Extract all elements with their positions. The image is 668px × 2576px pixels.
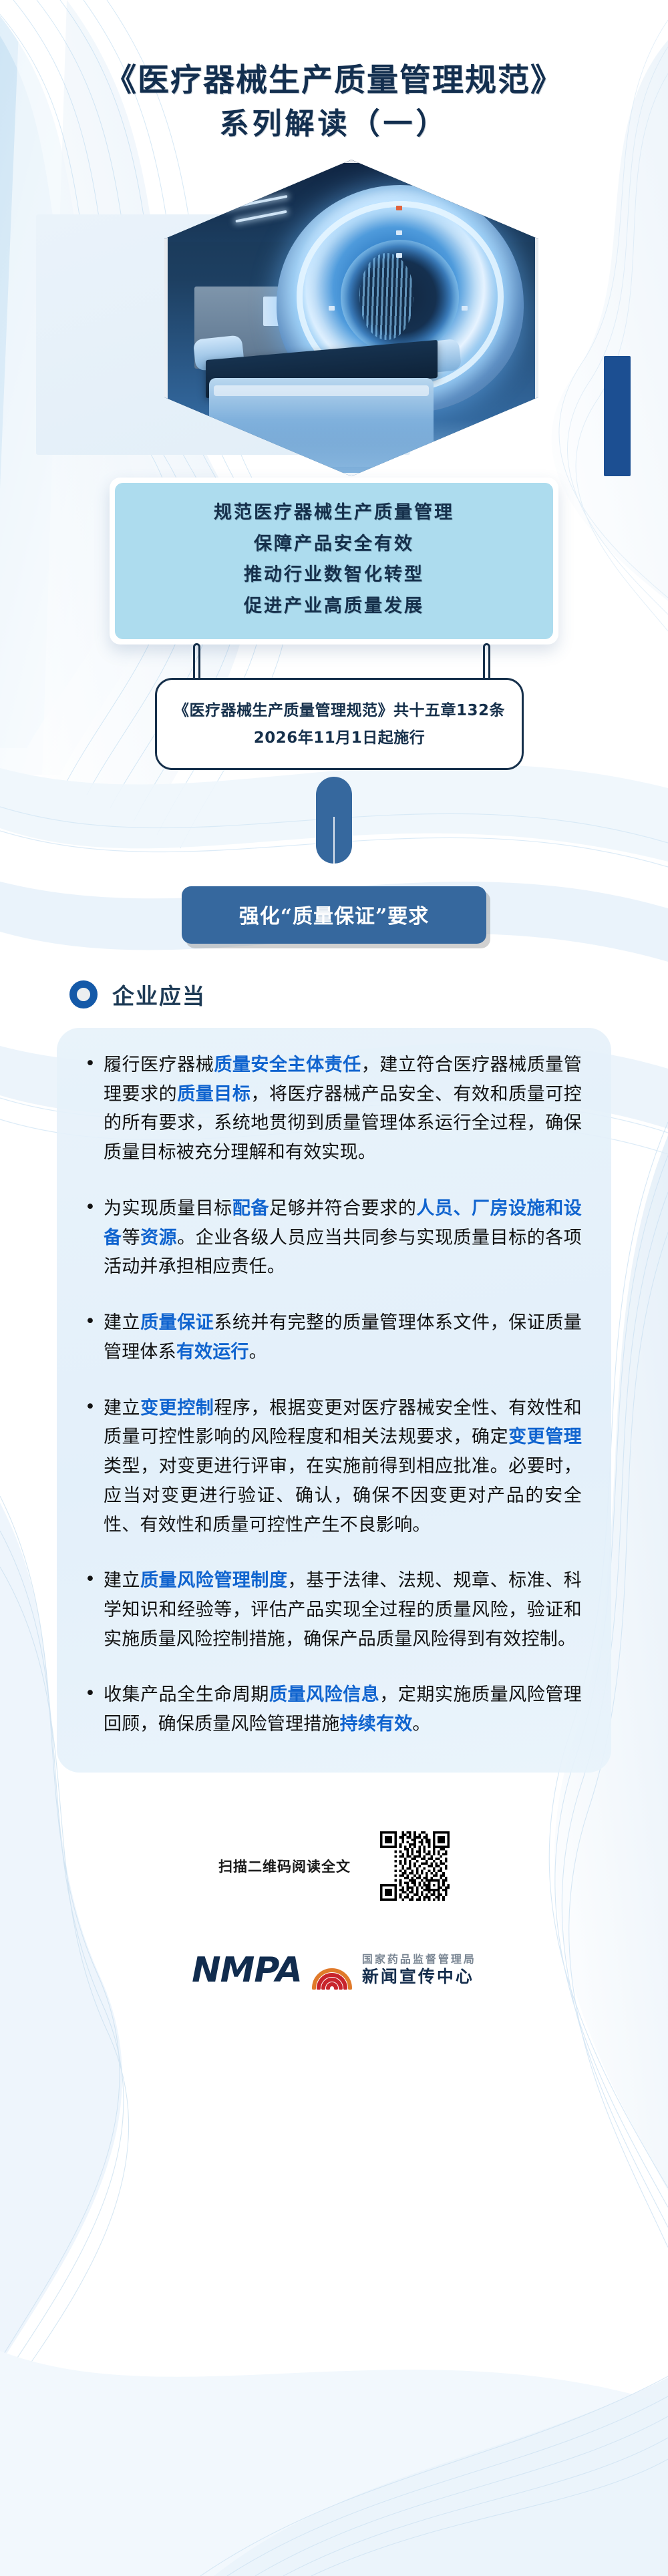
highlighted-term: 配备 — [232, 1198, 269, 1219]
highlighted-term: 质量风险信息 — [269, 1684, 379, 1705]
qr-code-icon[interactable] — [380, 1831, 450, 1901]
page-title-line-2: 系列解读（一） — [0, 104, 668, 145]
hero-accent-bar — [604, 356, 631, 476]
highlighted-term: 变更控制 — [140, 1398, 214, 1419]
slogan-line-1: 规范医疗器械生产质量管理 — [115, 498, 553, 528]
footer-logo-bar: NMPA 国家药品监督管理局 新闻宣传中心 — [0, 1950, 668, 1990]
hanging-sign-section: 《医疗器械生产质量管理规范》共十五章132条 2026年11月1日起施行 — [0, 640, 668, 761]
footer-org-line-2: 新闻宣传中心 — [362, 1966, 476, 1987]
vertical-connector-pill — [316, 777, 352, 864]
slogan-line-2: 保障产品安全有效 — [115, 529, 553, 560]
subsection-heading: 企业应当 — [69, 978, 668, 1010]
highlighted-term: 资源 — [140, 1228, 177, 1248]
slogan-section: 规范医疗器械生产质量管理 保障产品安全有效 推动行业数智化转型 促进产业高质量发… — [0, 478, 668, 645]
body-text: 履行医疗器械 — [104, 1055, 214, 1075]
bullet-3: 建立质量保证系统并有完整的质量管理体系文件，保证质量管理体系有效运行。 — [83, 1308, 582, 1366]
section-banner-text: 强化“质量保证”要求 — [239, 905, 430, 928]
nmpa-arc-logo-icon — [311, 1951, 353, 1990]
infographic-poster: 《医疗器械生产质量管理规范》 系列解读（一） — [0, 0, 668, 2576]
page-title-line-1: 《医疗器械生产质量管理规范》 — [0, 59, 668, 104]
highlighted-term: 质量安全主体责任 — [214, 1055, 361, 1075]
subsection-heading-text: 企业应当 — [112, 978, 206, 1010]
body-text: 建立 — [104, 1398, 140, 1419]
footer-org-line-1: 国家药品监督管理局 — [362, 1953, 476, 1966]
highlighted-term: 质量风险管理制度 — [140, 1570, 287, 1591]
body-text: 建立 — [104, 1312, 140, 1333]
highlighted-term: 质量目标 — [177, 1084, 251, 1105]
hanging-sign-line-1: 《医疗器械生产质量管理规范》共十五章132条 — [157, 697, 522, 725]
highlighted-term: 有效运行 — [176, 1342, 249, 1362]
bullet-2: 为实现质量目标配备足够并符合要求的人员、厂房设施和设备等资源。企业各级人员应当共… — [83, 1194, 582, 1282]
requirements-list: 履行医疗器械质量安全主体责任，建立符合医疗器械质量管理要求的质量目标，将医疗器械… — [83, 1051, 582, 1739]
poster-header: 《医疗器械生产质量管理规范》 系列解读（一） — [0, 0, 668, 145]
bullet-1: 履行医疗器械质量安全主体责任，建立符合医疗器械质量管理要求的质量目标，将医疗器械… — [83, 1051, 582, 1167]
highlighted-term: 质量保证 — [140, 1312, 214, 1333]
slogan-line-4: 促进产业高质量发展 — [115, 591, 553, 622]
bullet-6: 收集产品全生命周期质量风险信息，定期实施质量风险管理回顾，确保质量风险管理措施持… — [83, 1680, 582, 1738]
qr-caption: 扫描二维码阅读全文 — [218, 1856, 351, 1876]
bullet-4: 建立变更控制程序，根据变更对医疗器械安全性、有效性和质量可控性影响的风险程度和相… — [83, 1394, 582, 1540]
body-text: 类型，对变更进行评审，在实施前得到相应批准。必要时，应当对变更进行验证、确认，确… — [104, 1456, 582, 1535]
body-text: 为实现质量目标 — [104, 1198, 232, 1219]
highlighted-term: 变更管理 — [508, 1427, 582, 1447]
body-text: 建立 — [104, 1570, 140, 1591]
hanging-sign-line-2: 2026年11月1日起施行 — [157, 725, 522, 752]
body-text: 等 — [122, 1228, 141, 1248]
requirements-card: 履行医疗器械质量安全主体责任，建立符合医疗器械质量管理要求的质量目标，将医疗器械… — [57, 1028, 611, 1773]
footer-organization: 国家药品监督管理局 新闻宣传中心 — [362, 1953, 476, 1987]
slogan-line-3: 推动行业数智化转型 — [115, 560, 553, 590]
section-banner: 强化“质量保证”要求 — [182, 886, 486, 944]
body-text: 足够并符合要求的 — [269, 1198, 416, 1219]
hero-image-section — [0, 156, 668, 476]
hanging-sign: 《医疗器械生产质量管理规范》共十五章132条 2026年11月1日起施行 — [155, 678, 524, 770]
body-text: 。 — [412, 1714, 430, 1734]
body-text: 收集产品全生命周期 — [104, 1684, 269, 1705]
nmpa-wordmark: NMPA — [192, 1950, 302, 1990]
slogan-card: 规范医疗器械生产质量管理 保障产品安全有效 推动行业数智化转型 促进产业高质量发… — [110, 478, 558, 645]
body-text: 。 — [249, 1342, 267, 1362]
bullet-5: 建立质量风险管理制度，基于法律、法规、规章、标准、科学知识和经验等，评估产品实现… — [83, 1566, 582, 1654]
highlighted-term: 持续有效 — [340, 1714, 413, 1734]
slogan-card-inner: 规范医疗器械生产质量管理 保障产品安全有效 推动行业数智化转型 促进产业高质量发… — [115, 483, 553, 639]
ring-icon — [69, 980, 98, 1008]
qr-section: 扫描二维码阅读全文 — [0, 1831, 668, 1901]
